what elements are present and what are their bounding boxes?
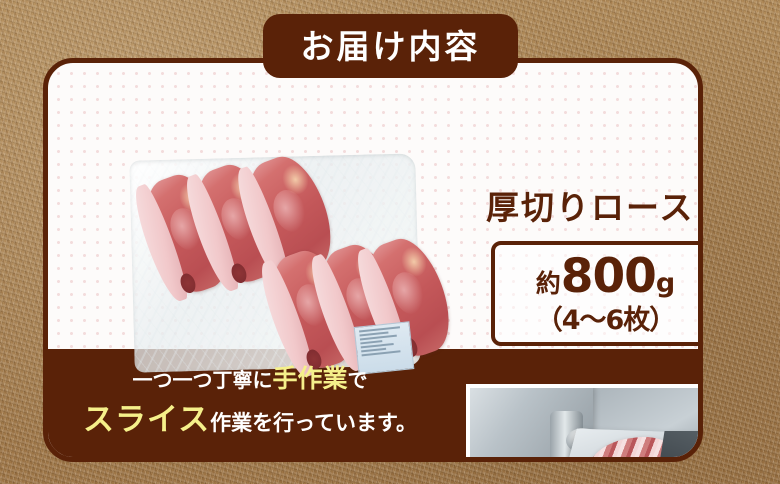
slogan-line-2: スライス作業を行っています。 [48, 401, 452, 441]
product-name: 厚切りロース [486, 181, 694, 229]
slogan-line-1: 一つ一つ丁寧に手作業で [48, 363, 452, 395]
weight-amount-line: 約 800 g [536, 253, 675, 300]
section-title-banner: お届け内容 [263, 14, 518, 78]
meat-product-photo [126, 151, 426, 376]
weight-unit: g [656, 270, 675, 297]
product-info-graphic: 厚切りロース 約 800 g （4〜6枚） 一つ一つ丁寧に手作業で スライス作業… [0, 0, 780, 484]
slogan-line1-highlight: 手作業 [272, 364, 347, 393]
weight-prefix: 約 [536, 271, 561, 296]
section-title-text: お届け内容 [301, 30, 481, 63]
slogan-line2-highlight: スライス [83, 402, 210, 438]
piece-count: （4〜6枚） [536, 307, 676, 334]
handwork-slogan: 一つ一つ丁寧に手作業で スライス作業を行っています。 [48, 363, 452, 441]
slogan-line1-part2: で [348, 368, 368, 392]
slogan-line2-part1: 作業を行っています。 [210, 411, 417, 435]
weight-box: 約 800 g （4〜6枚） [491, 241, 703, 346]
slicer-process-photo [466, 384, 703, 462]
slogan-line1-part1: 一つ一つ丁寧に [132, 368, 272, 392]
content-card: 厚切りロース 約 800 g （4〜6枚） 一つ一つ丁寧に手作業で スライス作業… [43, 58, 703, 462]
weight-amount: 800 [561, 253, 656, 300]
